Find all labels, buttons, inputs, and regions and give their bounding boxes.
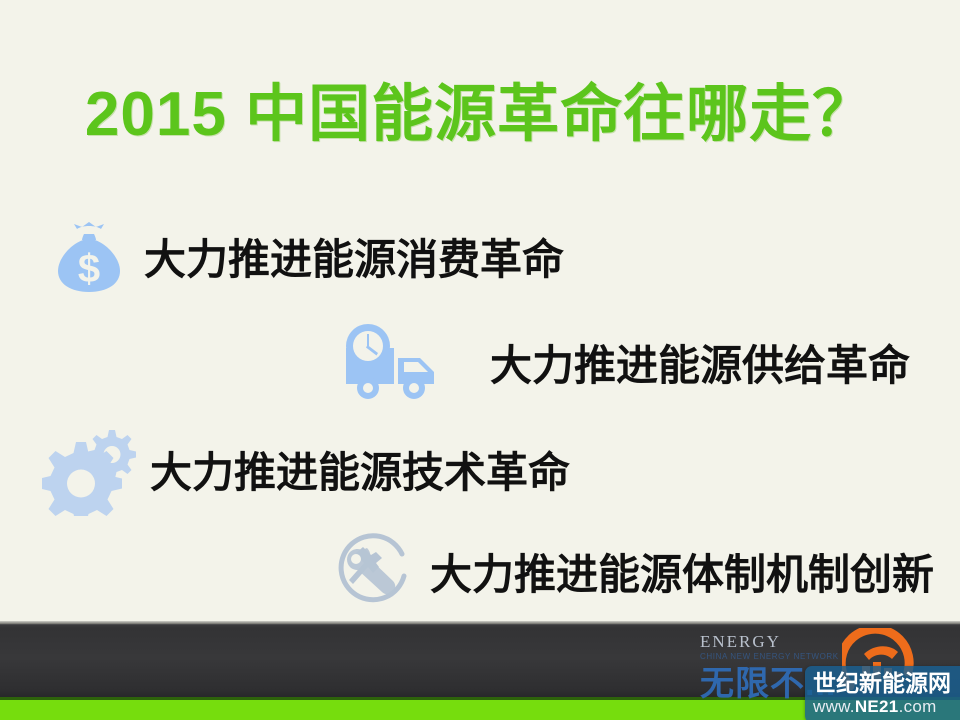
delivery-truck-clock-icon	[338, 322, 442, 409]
bullet-label-1: 大力推进能源消费革命	[144, 239, 564, 281]
bullet-item-2: 大力推进能源供给革命	[338, 322, 910, 409]
watermark-url-suffix: .com	[899, 697, 937, 716]
bullet-item-1: $ 大力推进能源消费革命	[46, 214, 564, 305]
watermark-url: www.NE21.com	[813, 697, 960, 717]
bullet-item-3: 大力推进能源技术革命	[42, 424, 570, 521]
bullet-item-4: 大力推进能源体制机制创新	[332, 532, 934, 617]
page-title: 2015 中国能源革命往哪走？	[0, 82, 960, 147]
tools-circle-icon	[332, 532, 416, 617]
watermark-url-prefix: www.	[813, 697, 855, 716]
money-bag-icon: $	[46, 214, 132, 305]
slide-canvas: 2015 中国能源革命往哪走？ $ 大力推进能源消费革命	[0, 0, 960, 720]
watermark-site-name: 世纪新能源网	[813, 671, 960, 695]
energy-wordmark: ENERGY	[700, 632, 781, 652]
bullet-label-3: 大力推进能源技术革命	[150, 452, 570, 494]
gears-icon	[42, 424, 138, 521]
watermark-url-brand: NE21	[855, 697, 899, 716]
svg-text:$: $	[78, 247, 100, 291]
bullet-label-2: 大力推进能源供给革命	[490, 345, 910, 387]
bullet-label-4: 大力推进能源体制机制创新	[430, 554, 934, 596]
site-watermark: 世纪新能源网 www.NE21.com	[805, 666, 960, 720]
